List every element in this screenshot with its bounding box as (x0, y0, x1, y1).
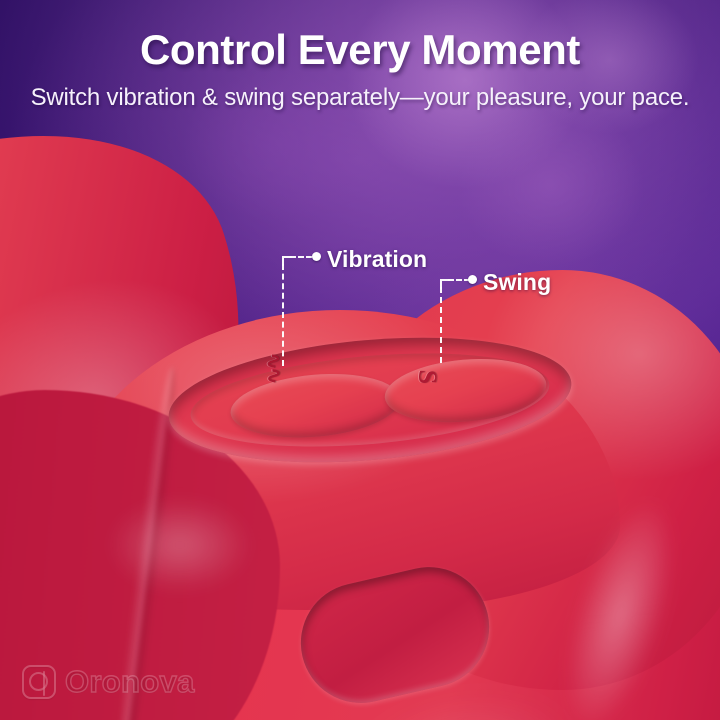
haze-blob (490, 0, 720, 160)
swing-button[interactable] (382, 353, 549, 429)
callout-label-vibration: Vibration (327, 246, 427, 273)
marketing-image: ∿∿ S Vibration Swing Control Every Momen… (0, 0, 720, 720)
leader-vertical (440, 287, 442, 363)
brand-logo: Oronova (22, 664, 195, 700)
vibration-button[interactable] (228, 367, 403, 444)
leader-horizontal (290, 256, 312, 258)
specular-highlight (80, 480, 280, 610)
leader-horizontal (448, 279, 470, 281)
leader-vertical (282, 264, 284, 366)
page-title: Control Every Moment (0, 26, 720, 74)
oronova-logo-mark-icon (22, 665, 56, 699)
callout-dot (468, 275, 477, 284)
callout-dot (312, 252, 321, 261)
callout-label-swing: Swing (483, 269, 551, 296)
brand-name: Oronova (65, 664, 195, 700)
page-subtitle: Switch vibration & swing separately—your… (0, 84, 720, 112)
